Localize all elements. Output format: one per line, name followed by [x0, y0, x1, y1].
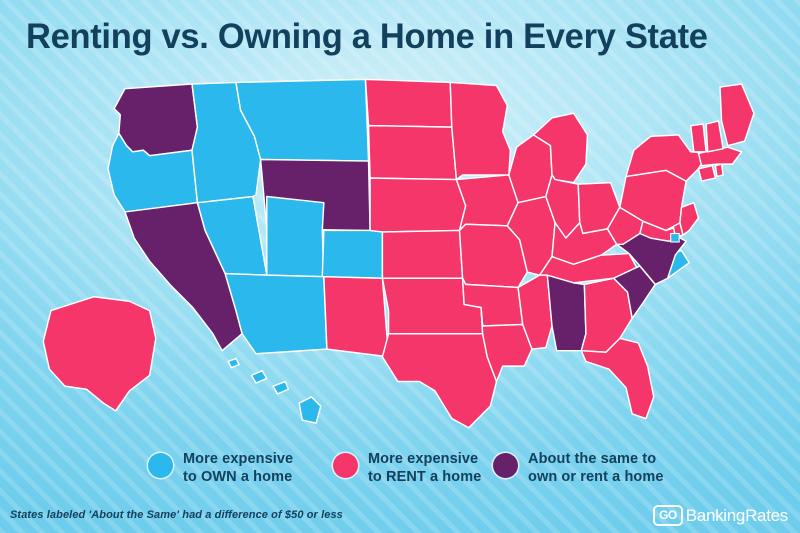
state-ks[interactable]: Kansas [382, 230, 462, 278]
gobankingrates-logo[interactable]: GO BankingRates [653, 505, 788, 526]
infographic-canvas: Renting vs. Owning a Home in Every State… [0, 0, 800, 533]
state-me[interactable]: Maine [720, 84, 754, 146]
legend-label-rent: More expensive to RENT a home [368, 450, 481, 486]
state-mn[interactable]: Minnesota [450, 82, 510, 179]
logo-wordmark: BankingRates [686, 507, 788, 524]
state-co[interactable]: Colorado [322, 230, 382, 278]
legend-swatch-same [493, 453, 518, 478]
state-nj[interactable]: New Jersey [680, 203, 699, 235]
state-hi[interactable]: Hawaii [228, 358, 321, 423]
map-svg: WashingtonOregonCaliforniaNevadaIdahoMon… [34, 78, 774, 443]
legend-swatch-rent [333, 453, 358, 478]
legend-item-same[interactable]: About the same to own or rent a home [493, 450, 664, 486]
state-nh[interactable]: New Hampshire [706, 121, 723, 152]
legend-label-own: More expensive to OWN a home [183, 450, 293, 486]
state-wi[interactable]: Wisconsin [509, 135, 552, 203]
state-ak[interactable]: Alaska [43, 297, 156, 411]
footnote: States labeled 'About the Same' had a di… [10, 509, 343, 521]
state-dc[interactable]: District of Columbia [671, 234, 679, 242]
us-choropleth-map: WashingtonOregonCaliforniaNevadaIdahoMon… [34, 78, 774, 443]
legend-swatch-own [148, 453, 173, 478]
state-vt[interactable]: Vermont [691, 124, 706, 152]
page-title: Renting vs. Owning a Home in Every State [26, 16, 775, 58]
legend-item-rent[interactable]: More expensive to RENT a home [333, 450, 481, 486]
state-ne[interactable]: Nebraska [370, 178, 466, 232]
state-ut[interactable]: Utah [267, 197, 324, 277]
logo-badge: GO [653, 505, 683, 526]
state-nd[interactable]: North Dakota [365, 79, 451, 127]
legend-item-own[interactable]: More expensive to OWN a home [148, 450, 293, 486]
state-ct[interactable]: Connecticut [698, 166, 715, 181]
state-tx[interactable]: Texas [382, 334, 496, 428]
state-nm[interactable]: New Mexico [324, 277, 389, 357]
state-sd[interactable]: South Dakota [369, 126, 457, 180]
legend: More expensive to OWN a home More expens… [148, 450, 788, 492]
state-al[interactable]: Alabama [547, 275, 586, 351]
state-az[interactable]: Arizona [225, 274, 327, 354]
legend-label-same: About the same to own or rent a home [528, 450, 664, 486]
state-ri[interactable]: Rhode Island [715, 164, 723, 176]
